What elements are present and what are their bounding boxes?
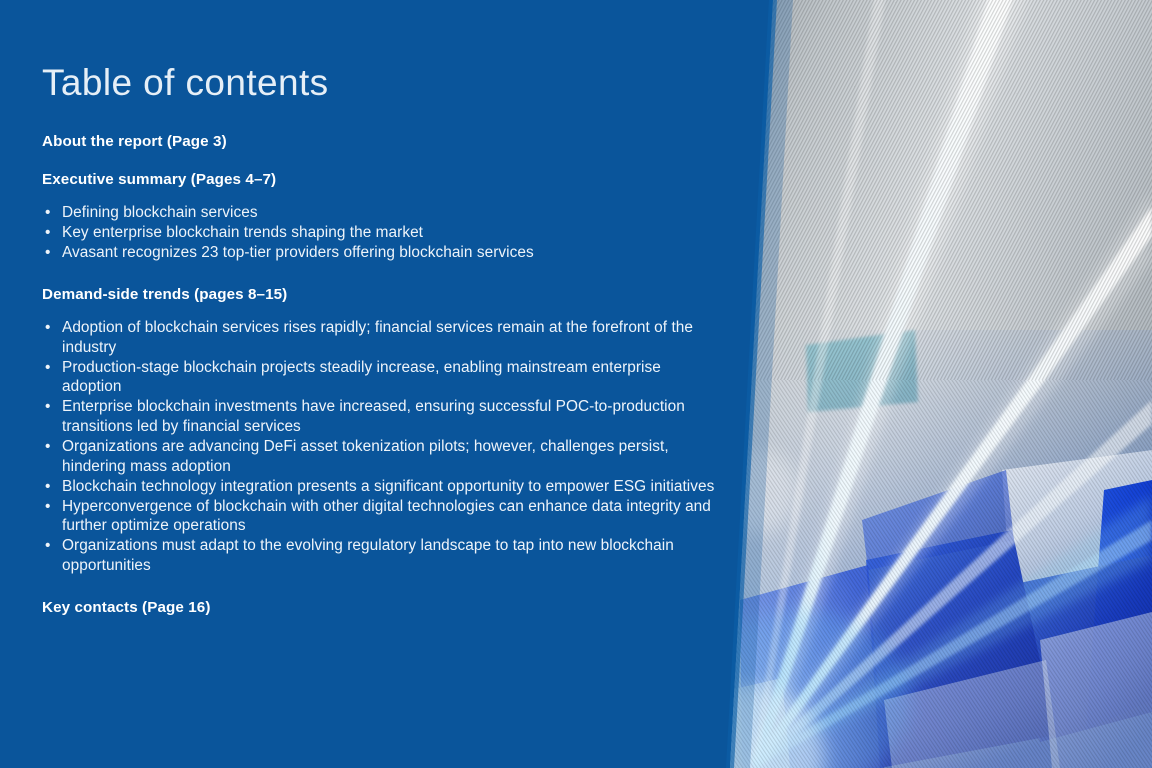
bullet-icon: • xyxy=(45,536,50,556)
section-spacer xyxy=(42,263,722,285)
list-item: • Blockchain technology integration pres… xyxy=(42,477,722,497)
list-item-text: Adoption of blockchain services rises ra… xyxy=(62,319,693,356)
bullet-icon: • xyxy=(45,223,50,243)
list-item-text: Defining blockchain services xyxy=(62,204,258,221)
bullet-icon: • xyxy=(45,437,50,457)
list-item-text: Enterprise blockchain investments have i… xyxy=(62,398,685,435)
content-column: Table of contents About the report (Page… xyxy=(0,0,740,768)
heading-bullets-spacer xyxy=(42,304,722,318)
list-item: • Organizations are advancing DeFi asset… xyxy=(42,437,722,476)
section-heading[interactable]: Demand-side trends (pages 8–15) xyxy=(42,285,722,304)
slide-canvas: Table of contents About the report (Page… xyxy=(0,0,1152,768)
bullet-list: • Adoption of blockchain services rises … xyxy=(42,318,722,575)
table-of-contents: About the report (Page 3) Executive summ… xyxy=(42,132,722,617)
list-item-text: Avasant recognizes 23 top-tier providers… xyxy=(62,244,534,261)
list-item-text: Organizations must adapt to the evolving… xyxy=(62,537,674,574)
list-item: • Defining blockchain services xyxy=(42,203,722,223)
list-item-text: Blockchain technology integration presen… xyxy=(62,478,714,495)
list-item: • Key enterprise blockchain trends shapi… xyxy=(42,223,722,243)
bullet-icon: • xyxy=(45,203,50,223)
page-title: Table of contents xyxy=(42,63,329,104)
section-heading[interactable]: Key contacts (Page 16) xyxy=(42,598,722,617)
section-spacer xyxy=(42,576,722,598)
list-item-text: Key enterprise blockchain trends shaping… xyxy=(62,224,423,241)
bullet-icon: • xyxy=(45,477,50,497)
section-heading[interactable]: About the report (Page 3) xyxy=(42,132,722,151)
list-item: • Avasant recognizes 23 top-tier provide… xyxy=(42,243,722,263)
toc-section-demand-side-trends: Demand-side trends (pages 8–15) • Adopti… xyxy=(42,285,722,575)
list-item: • Organizations must adapt to the evolvi… xyxy=(42,536,722,575)
bullet-icon: • xyxy=(45,497,50,517)
bullet-icon: • xyxy=(45,358,50,378)
bullet-icon: • xyxy=(45,318,50,338)
toc-section-key-contacts: Key contacts (Page 16) xyxy=(42,598,722,617)
list-item-text: Organizations are advancing DeFi asset t… xyxy=(62,438,669,475)
list-item: • Production-stage blockchain projects s… xyxy=(42,358,722,397)
list-item: • Enterprise blockchain investments have… xyxy=(42,397,722,436)
section-spacer xyxy=(42,151,722,170)
bullet-list: • Defining blockchain services • Key ent… xyxy=(42,203,722,263)
bullet-icon: • xyxy=(45,243,50,263)
bullet-icon: • xyxy=(45,397,50,417)
list-item-text: Hyperconvergence of blockchain with othe… xyxy=(62,498,711,535)
section-heading[interactable]: Executive summary (Pages 4–7) xyxy=(42,170,722,189)
list-item: • Adoption of blockchain services rises … xyxy=(42,318,722,357)
toc-section-about-the-report: About the report (Page 3) xyxy=(42,132,722,151)
toc-section-executive-summary: Executive summary (Pages 4–7) • Defining… xyxy=(42,170,722,263)
heading-bullets-spacer xyxy=(42,189,722,203)
list-item: • Hyperconvergence of blockchain with ot… xyxy=(42,497,722,536)
list-item-text: Production-stage blockchain projects ste… xyxy=(62,359,661,396)
